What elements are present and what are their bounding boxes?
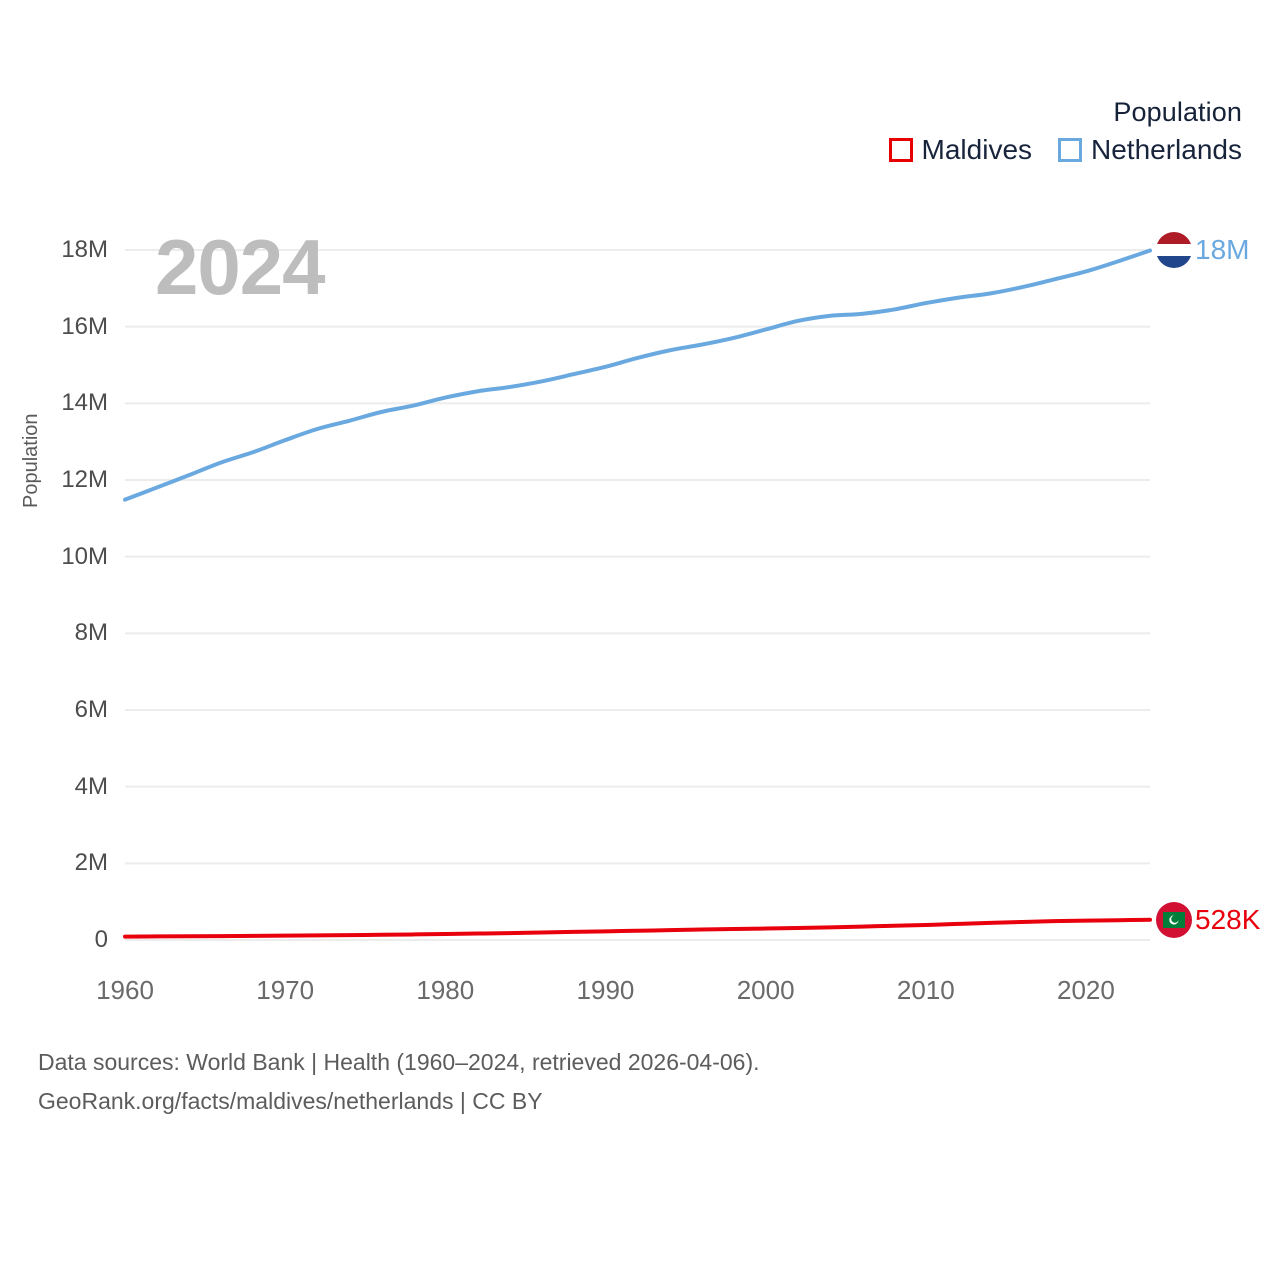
x-tick-label: 2000 bbox=[737, 975, 795, 1006]
legend-item-maldives[interactable]: Maldives bbox=[889, 136, 1032, 164]
x-tick-label: 2020 bbox=[1057, 975, 1115, 1006]
legend-label: Netherlands bbox=[1091, 136, 1242, 164]
maldives-flag-icon bbox=[1156, 902, 1192, 938]
y-tick-label: 2M bbox=[8, 849, 108, 877]
year-watermark: 2024 bbox=[155, 228, 325, 306]
netherlands-end-value-label: 18M bbox=[1195, 234, 1249, 266]
netherlands-flag-icon bbox=[1156, 232, 1192, 268]
legend-swatch-netherlands bbox=[1058, 138, 1082, 162]
x-tick-label: 2010 bbox=[897, 975, 955, 1006]
y-tick-label: 10M bbox=[8, 543, 108, 571]
x-tick-label: 1990 bbox=[577, 975, 635, 1006]
y-tick-label: 14M bbox=[8, 389, 108, 417]
population-line-chart: Population 02M4M6M8M10M12M14M16M18M 1960… bbox=[0, 0, 1280, 1280]
legend-label: Maldives bbox=[922, 136, 1032, 164]
footer-line-2: GeoRank.org/facts/maldives/netherlands |… bbox=[38, 1082, 760, 1121]
footer-attribution: Data sources: World Bank | Health (1960–… bbox=[38, 1043, 760, 1120]
series-line-maldives bbox=[125, 920, 1150, 937]
x-tick-label: 1980 bbox=[416, 975, 474, 1006]
y-tick-label: 16M bbox=[8, 313, 108, 341]
y-tick-label: 18M bbox=[8, 236, 108, 264]
y-tick-label: 6M bbox=[8, 696, 108, 724]
legend-swatch-maldives bbox=[889, 138, 913, 162]
maldives-flag-svg bbox=[1156, 902, 1192, 938]
x-tick-label: 1960 bbox=[96, 975, 154, 1006]
y-tick-label: 0 bbox=[8, 926, 108, 954]
legend: Population MaldivesNetherlands bbox=[889, 96, 1242, 164]
x-tick-label: 1970 bbox=[256, 975, 314, 1006]
y-tick-label: 8M bbox=[8, 619, 108, 647]
y-tick-label: 4M bbox=[8, 773, 108, 801]
legend-title: Population bbox=[889, 96, 1242, 128]
maldives-end-value-label: 528K bbox=[1195, 904, 1260, 936]
legend-items: MaldivesNetherlands bbox=[889, 136, 1242, 164]
legend-item-netherlands[interactable]: Netherlands bbox=[1058, 136, 1242, 164]
footer-line-1: Data sources: World Bank | Health (1960–… bbox=[38, 1043, 760, 1082]
y-tick-label: 12M bbox=[8, 466, 108, 494]
